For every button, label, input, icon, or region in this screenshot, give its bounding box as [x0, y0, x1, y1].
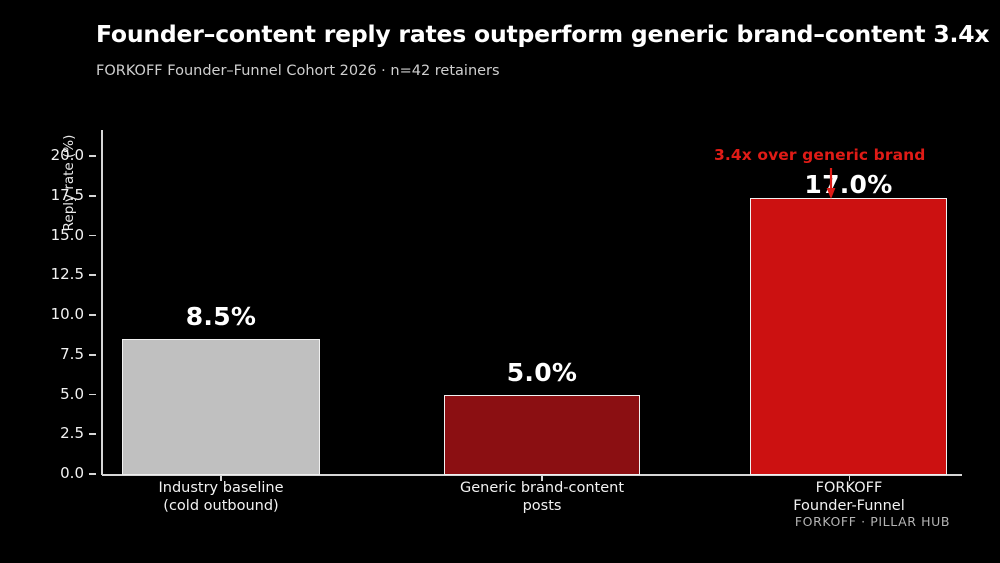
y-tick-mark	[89, 155, 96, 157]
bar-generic-brand-content[interactable]	[444, 395, 640, 475]
y-tick-mark	[89, 354, 96, 356]
x-axis-label-forkoff-founder-funnel: FORKOFF Founder-Funnel	[729, 479, 969, 515]
x-label-line-1: FORKOFF	[729, 479, 969, 497]
bar-forkoff-founder-funnel[interactable]	[750, 198, 947, 475]
y-tick-mark	[89, 473, 96, 475]
y-tick-label: 7.5	[60, 345, 84, 363]
y-axis-spine	[101, 130, 103, 475]
bar-industry-baseline[interactable]	[122, 339, 320, 475]
y-tick-label: 17.5	[51, 186, 84, 204]
y-tick-label: 12.5	[51, 265, 84, 283]
bar-value-label: 8.5%	[122, 302, 320, 331]
y-tick-mark	[89, 433, 96, 435]
y-tick-mark	[89, 235, 96, 237]
y-tick-label: 5.0	[60, 385, 84, 403]
chart-subtitle: FORKOFF Founder–Funnel Cohort 2026 · n=4…	[96, 63, 500, 79]
footer-credit: FORKOFF · PILLAR HUB	[795, 514, 950, 529]
y-tick-mark	[89, 274, 96, 276]
x-label-line-1: Industry baseline	[101, 479, 341, 497]
callout-annotation: 3.4x over generic brand	[714, 146, 925, 164]
y-tick-mark	[89, 195, 96, 197]
y-tick-label: 0.0	[60, 464, 84, 482]
x-axis-label-generic-brand-content: Generic brand-content posts	[422, 479, 662, 515]
x-label-line-1: Generic brand-content	[422, 479, 662, 497]
y-tick-label: 10.0	[51, 305, 84, 323]
y-tick-mark	[89, 314, 96, 316]
x-label-line-2: posts	[422, 497, 662, 515]
y-tick-label: 20.0	[51, 146, 84, 164]
bar-value-label: 17.0%	[750, 170, 947, 199]
chart-page: { "header": { "title": "Founder\u2013con…	[0, 0, 1000, 563]
y-tick-label: 2.5	[60, 424, 84, 442]
page-title: Founder–content reply rates outperform g…	[96, 20, 989, 48]
y-tick-mark	[89, 394, 96, 396]
x-label-line-2: Founder-Funnel	[729, 497, 969, 515]
down-arrow-icon	[824, 168, 838, 200]
x-label-line-2: (cold outbound)	[101, 497, 341, 515]
x-axis-label-industry-baseline: Industry baseline (cold outbound)	[101, 479, 341, 515]
bar-value-label: 5.0%	[444, 358, 640, 387]
y-axis-label: Reply rate (%)	[61, 93, 77, 273]
y-tick-label: 15.0	[51, 226, 84, 244]
